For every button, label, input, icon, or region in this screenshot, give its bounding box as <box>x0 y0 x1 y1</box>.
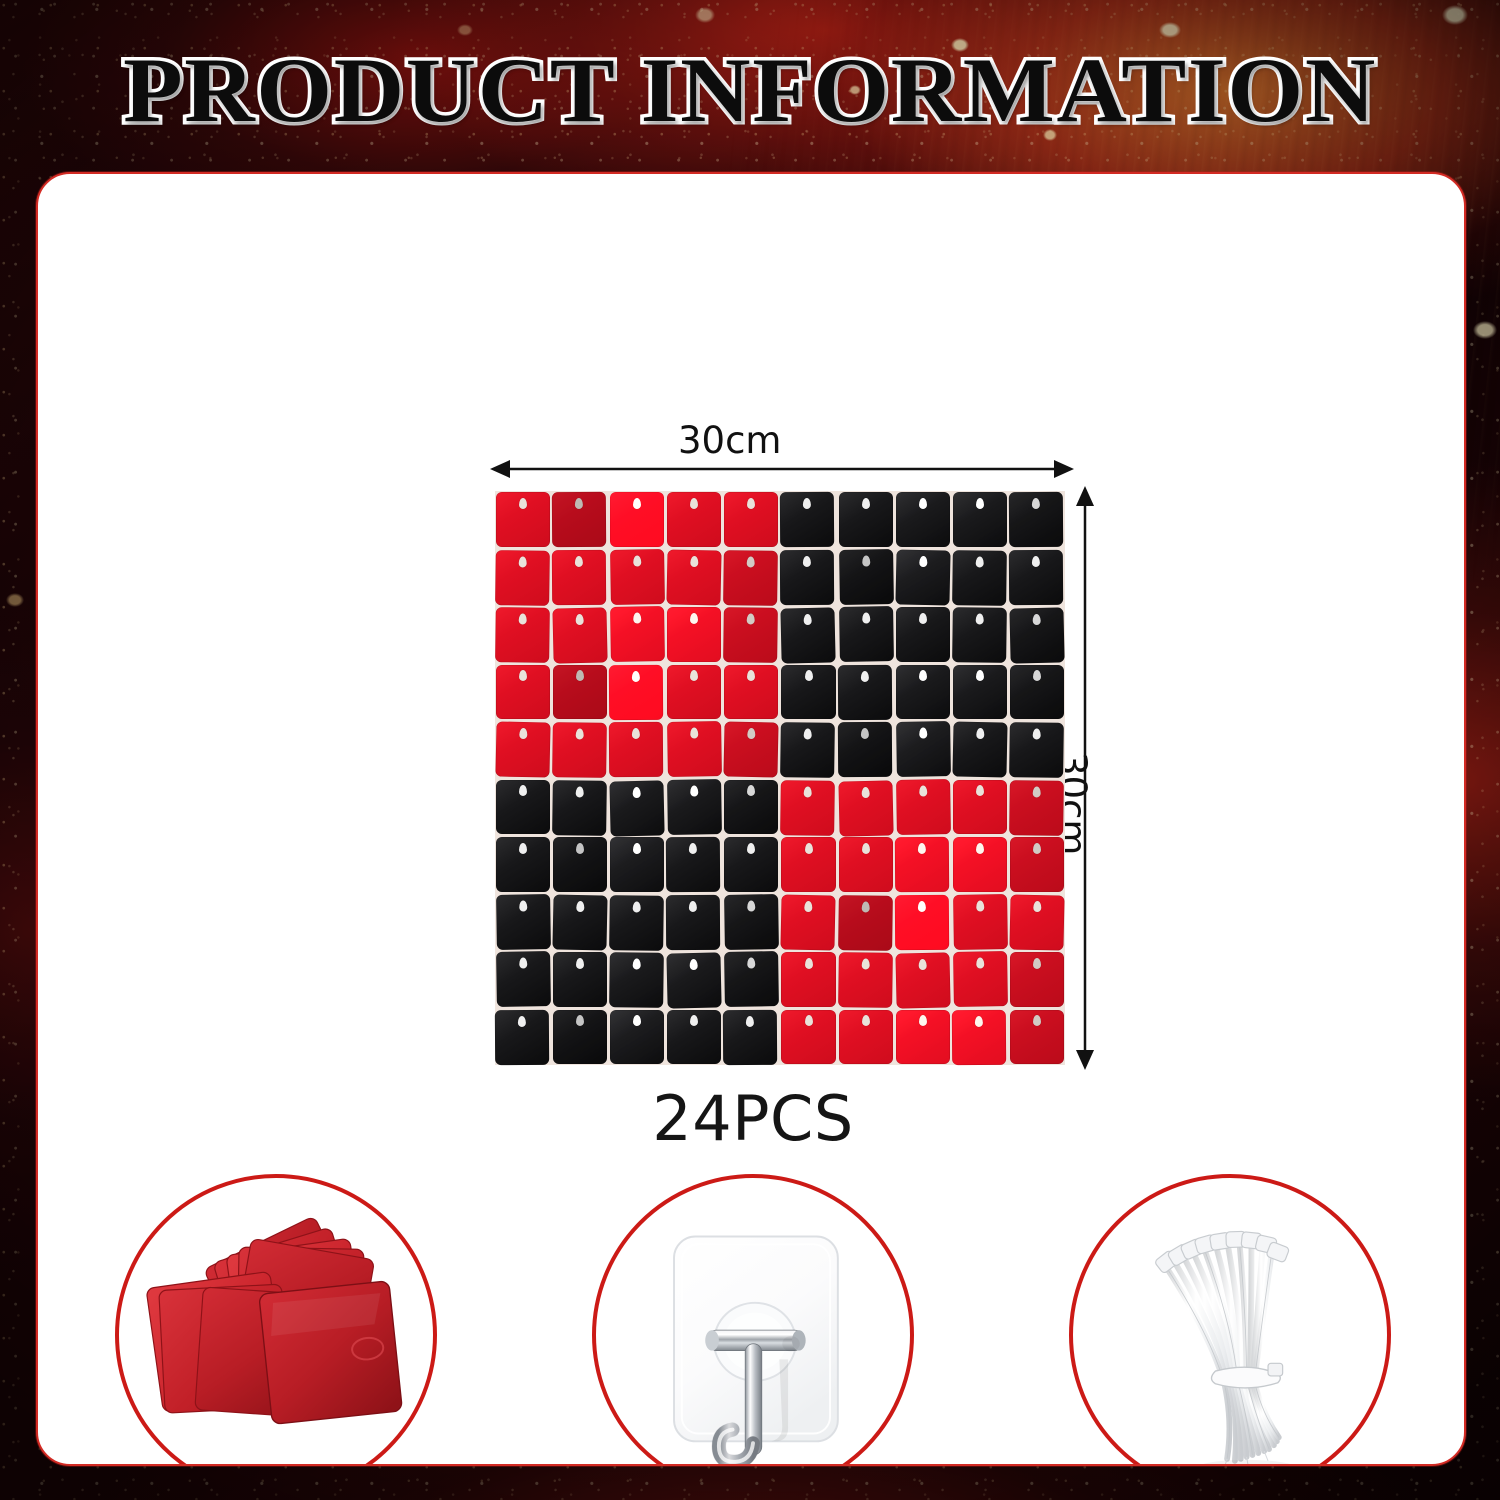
sequin-tile[interactable] <box>610 492 664 547</box>
sequin-tile[interactable] <box>839 492 893 547</box>
sequin-tile[interactable] <box>666 894 720 949</box>
sequin-tile[interactable] <box>667 607 721 662</box>
wall-hooks-circle <box>592 1174 914 1466</box>
sequin-tile[interactable] <box>781 722 836 777</box>
sequin-tile[interactable] <box>724 780 778 835</box>
sequin-tile[interactable] <box>953 951 1008 1006</box>
sequin-tile[interactable] <box>839 606 894 661</box>
sequin-tile[interactable] <box>495 607 550 662</box>
sequin-tile[interactable] <box>781 1010 835 1065</box>
sequin-tile[interactable] <box>781 665 835 720</box>
page-title: PRODUCT INFORMATION <box>0 44 1500 136</box>
red-sequin-stack-icon <box>119 1178 433 1466</box>
sequin-tile[interactable] <box>609 895 664 950</box>
sequin-tile[interactable] <box>552 492 606 547</box>
sequin-tile[interactable] <box>894 837 948 892</box>
sequin-tile[interactable] <box>896 1010 950 1065</box>
sequin-tile[interactable] <box>1009 894 1064 950</box>
sequin-tile[interactable] <box>724 951 779 1006</box>
sequin-tile[interactable] <box>839 837 893 892</box>
sequin-tile[interactable] <box>609 952 664 1007</box>
sequin-tile[interactable] <box>953 665 1007 720</box>
sequin-tile[interactable] <box>952 1009 1006 1064</box>
sequin-tile[interactable] <box>553 837 607 892</box>
sequin-tile[interactable] <box>667 549 722 605</box>
sequin-tile[interactable] <box>839 1010 893 1065</box>
sequin-tile[interactable] <box>495 1009 549 1064</box>
sequin-tile[interactable] <box>1010 952 1064 1007</box>
sequin-tile[interactable] <box>667 1010 721 1065</box>
sequin-tile[interactable] <box>610 606 665 661</box>
sequin-tile[interactable] <box>953 837 1007 892</box>
sequin-tile[interactable] <box>896 492 950 547</box>
sequin-tile[interactable] <box>724 607 779 662</box>
sequin-tile[interactable] <box>666 837 720 892</box>
sequin-tile[interactable] <box>781 607 836 663</box>
adhesive-wall-hook-icon <box>596 1178 910 1466</box>
sequin-tile[interactable] <box>724 492 778 547</box>
accessory-row: Spare Sequins <box>38 1174 1466 1466</box>
sequin-tile[interactable] <box>609 722 663 777</box>
sequin-tile[interactable] <box>552 722 607 777</box>
sequin-tile[interactable] <box>496 894 551 949</box>
sequin-tile[interactable] <box>553 607 608 663</box>
sequin-tile[interactable] <box>781 952 835 1007</box>
sequin-tile[interactable] <box>839 549 894 604</box>
sequin-tile[interactable] <box>553 894 608 950</box>
sequin-tile[interactable] <box>1009 780 1064 835</box>
sequin-tile[interactable] <box>1009 549 1063 604</box>
sequin-tile[interactable] <box>496 780 550 835</box>
sequin-tile[interactable] <box>1009 607 1064 663</box>
sequin-tile[interactable] <box>724 721 779 777</box>
sequin-tile[interactable] <box>609 664 663 719</box>
sequin-tile[interactable] <box>610 1010 664 1065</box>
sequin-tile[interactable] <box>781 894 836 950</box>
sequin-tile[interactable] <box>781 837 835 892</box>
sequin-tile[interactable] <box>724 665 778 720</box>
spare-sequins-circle <box>115 1174 437 1466</box>
sequin-tile[interactable] <box>838 895 893 950</box>
sequin-tile[interactable] <box>667 952 722 1008</box>
accessory-spare-sequins: Spare Sequins <box>81 1174 471 1466</box>
sequin-tile[interactable] <box>896 607 950 662</box>
sequin-tile[interactable] <box>895 549 950 605</box>
sequin-tile[interactable] <box>1010 665 1064 720</box>
sequin-tile[interactable] <box>496 951 551 1006</box>
content-card: 30cm 30cm 24PCS <box>36 172 1466 1466</box>
sequin-tile[interactable] <box>896 721 951 776</box>
sequin-tile[interactable] <box>896 665 950 720</box>
sequin-tile[interactable] <box>780 492 834 547</box>
zip-tie-bundle-icon <box>1073 1178 1387 1466</box>
sequin-tile[interactable] <box>1010 1010 1064 1065</box>
accessory-zip-ties: 100Pcs Zip Ties <box>1035 1174 1425 1466</box>
sequin-tile[interactable] <box>495 721 550 777</box>
piece-count-label: 24PCS <box>38 1082 1466 1155</box>
sequin-tile[interactable] <box>496 837 550 892</box>
width-dimension-arrow <box>490 456 1074 482</box>
sequin-tile[interactable] <box>496 492 550 547</box>
sequin-tile[interactable] <box>667 665 721 720</box>
sequin-tile[interactable] <box>953 894 1008 949</box>
sequin-tile[interactable] <box>838 780 893 836</box>
sequin-tile[interactable] <box>1010 837 1064 892</box>
sequin-tile[interactable] <box>953 492 1007 547</box>
sequin-tile[interactable] <box>723 1009 777 1064</box>
sequin-tile[interactable] <box>610 837 664 892</box>
sequin-tile[interactable] <box>724 894 779 949</box>
height-dimension-arrow <box>1072 486 1098 1070</box>
sequin-tile[interactable] <box>952 607 1007 662</box>
sequin-tile[interactable] <box>837 664 891 719</box>
sequin-tile[interactable] <box>553 1010 607 1065</box>
sequin-tile[interactable] <box>780 549 834 604</box>
sequin-tile[interactable] <box>781 780 836 835</box>
sequin-tile[interactable] <box>953 780 1007 835</box>
sequin-panel[interactable] <box>495 491 1065 1065</box>
sequin-tile[interactable] <box>667 492 721 547</box>
product-information-infographic: PRODUCT INFORMATION 30cm 30cm 24PCS <box>0 0 1500 1500</box>
sequin-tile[interactable] <box>610 549 665 604</box>
accessory-wall-hooks: 10Pcs Wall Hooks <box>558 1174 948 1466</box>
sequin-tile[interactable] <box>896 779 951 834</box>
sequin-tile[interactable] <box>838 952 893 1007</box>
sequin-tile[interactable] <box>667 779 722 834</box>
sequin-tile[interactable] <box>1009 492 1063 547</box>
sequin-tile[interactable] <box>724 837 778 892</box>
sequin-tile[interactable] <box>837 722 891 777</box>
sequin-tile[interactable] <box>552 780 607 835</box>
sequin-tile[interactable] <box>952 550 1007 605</box>
sequin-tile[interactable] <box>1009 722 1064 777</box>
sequin-tile[interactable] <box>667 721 722 776</box>
sequin-tile[interactable] <box>495 550 550 605</box>
sequin-tile[interactable] <box>496 665 550 720</box>
sequin-tile[interactable] <box>724 550 779 605</box>
sequin-tile[interactable] <box>894 894 948 949</box>
sequin-tile[interactable] <box>895 952 950 1008</box>
sequin-tile[interactable] <box>553 952 607 1007</box>
sequin-tile[interactable] <box>552 549 606 604</box>
sequin-tile[interactable] <box>610 780 665 836</box>
zip-ties-circle <box>1069 1174 1391 1466</box>
sequin-tile[interactable] <box>952 721 1007 777</box>
sequin-tile[interactable] <box>553 665 607 720</box>
